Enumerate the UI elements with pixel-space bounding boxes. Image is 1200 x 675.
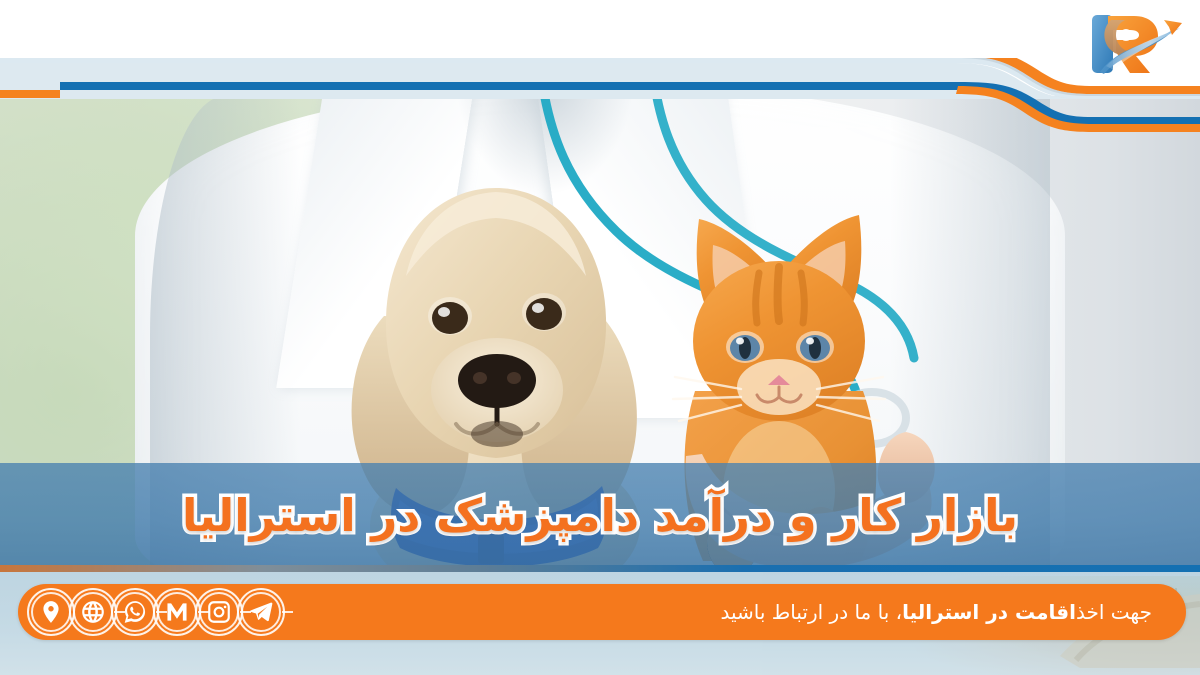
connector-dash xyxy=(282,611,293,613)
social-links xyxy=(30,586,282,638)
company-logo[interactable] xyxy=(1080,10,1184,82)
caption-lead: جهت اخذ xyxy=(1076,600,1152,624)
title-band: بازار کار و درآمد دامپزشک در استرالیا xyxy=(0,463,1200,568)
footer-caption: جهت اخذ اقامت در استرالیا، با ما در ارتب… xyxy=(720,584,1152,640)
title-band-divider xyxy=(0,565,1200,572)
whatsapp-icon xyxy=(122,599,148,625)
header-white-strip xyxy=(0,0,1200,58)
page-title: بازار کار و درآمد دامپزشک در استرالیا xyxy=(182,493,1018,538)
footer: جهت اخذ اقامت در استرالیا، با ما در ارتب… xyxy=(0,570,1200,675)
instagram-icon xyxy=(206,599,232,625)
globe-icon xyxy=(80,599,106,625)
location-pin-icon xyxy=(38,599,64,625)
contact-bar: جهت اخذ اقامت در استرالیا، با ما در ارتب… xyxy=(18,584,1186,640)
caption-tail: ، با ما در ارتباط باشید xyxy=(720,600,902,624)
social-location[interactable] xyxy=(27,588,75,636)
telegram-icon xyxy=(248,599,274,625)
promo-banner: بازار کار و درآمد دامپزشک در استرالیا xyxy=(0,0,1200,675)
caption-highlight: اقامت در استرالیا xyxy=(902,600,1076,624)
social-website[interactable] xyxy=(69,588,117,636)
mail-icon xyxy=(164,599,190,625)
